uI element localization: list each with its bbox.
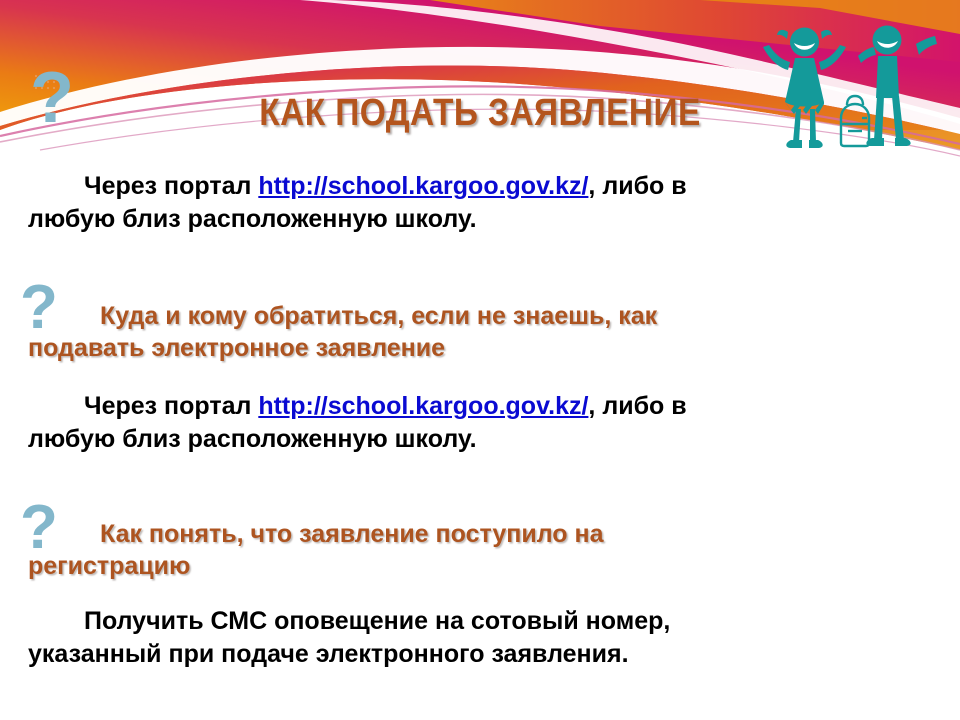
paragraph-portal-2: Через портал http://school.kargoo.gov.kz… xyxy=(28,390,933,455)
heading-line-1: Как понять, что заявление поступило на xyxy=(100,520,604,548)
section-heading-how-to-know: Как понять, что заявление поступило на р… xyxy=(28,518,936,582)
page-title: КАК ПОДАТЬ ЗАЯВЛЕНИЕ xyxy=(58,92,903,135)
question-mark-icon: ? xyxy=(30,62,74,134)
paragraph-lead-text: Получить СМС оповещение на сотовый номер… xyxy=(84,607,670,635)
portal-link[interactable]: http://school.kargoo.gov.kz/ xyxy=(258,172,588,200)
paragraph-after-link-text: , либо в xyxy=(588,172,686,200)
presentation-slide: КАК ПОДАТЬ ЗАЯВЛЕНИЕ ? Через портал http… xyxy=(0,0,960,720)
paragraph-sms-notification: Получить СМС оповещение на сотовый номер… xyxy=(28,605,933,670)
paragraph-lead-text: Через портал xyxy=(84,392,258,420)
section-heading-where-to-apply: Куда и кому обратиться, если не знаешь, … xyxy=(28,300,936,364)
paragraph-lead-text: Через портал xyxy=(84,172,258,200)
heading-line-1: Куда и кому обратиться, если не знаешь, … xyxy=(100,302,657,330)
paragraph-after-link-text: , либо в xyxy=(588,392,686,420)
paragraph-portal-1: Через портал http://school.kargoo.gov.kz… xyxy=(28,170,933,235)
paragraph-tail-text: любую близ расположенную школу. xyxy=(28,423,933,456)
portal-link[interactable]: http://school.kargoo.gov.kz/ xyxy=(258,392,588,420)
heading-line-2: подавать электронное заявление xyxy=(28,332,936,364)
heading-line-2: регистрацию xyxy=(28,550,936,582)
paragraph-tail-text: указанный при подаче электронного заявле… xyxy=(28,638,933,671)
paragraph-tail-text: любую близ расположенную школу. xyxy=(28,203,933,236)
